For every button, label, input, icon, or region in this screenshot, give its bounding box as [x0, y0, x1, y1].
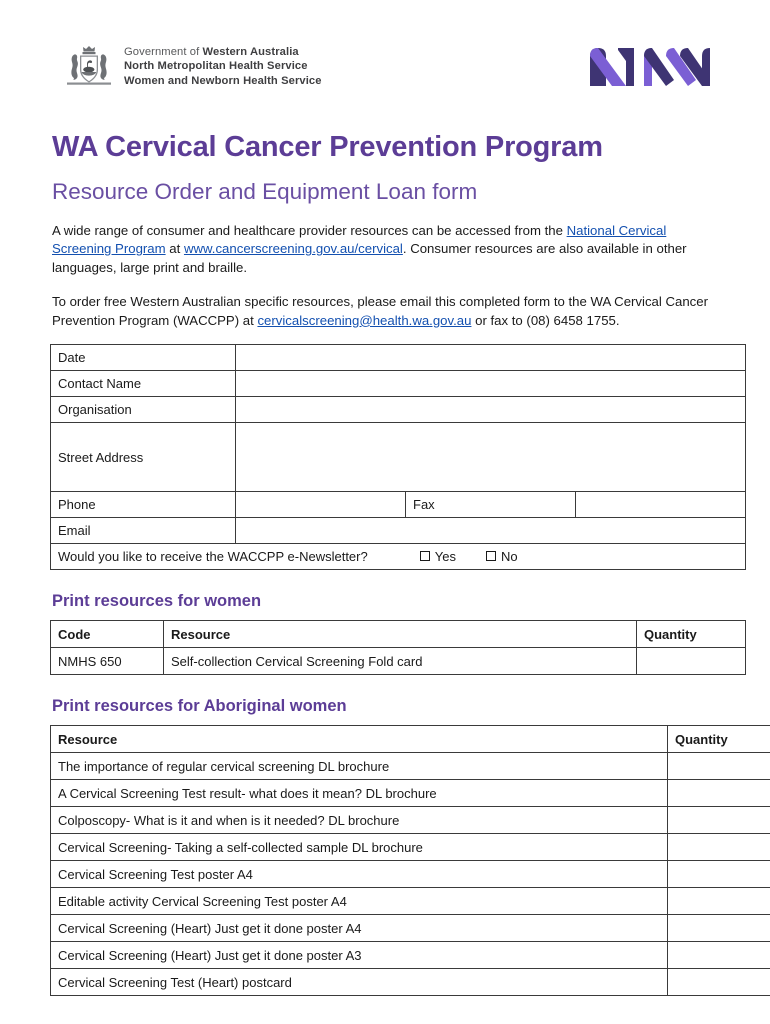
- cell-resource: Cervical Screening Test poster A4: [51, 861, 668, 888]
- table-header-row: Code Resource Quantity: [51, 621, 746, 648]
- cell-resource: Cervical Screening Test (Heart) postcard: [51, 969, 668, 996]
- document-page: Government of Western Australia North Me…: [0, 0, 770, 1024]
- column-header-resource: Resource: [164, 621, 637, 648]
- page-title: WA Cervical Cancer Prevention Program: [52, 132, 722, 164]
- cell-quantity-input[interactable]: [668, 780, 770, 807]
- contact-name-label: Contact Name: [51, 371, 236, 397]
- cell-resource: Editable activity Cervical Screening Tes…: [51, 888, 668, 915]
- gov-line-1: Government of Western Australia: [124, 45, 322, 59]
- intro-paragraph-1: A wide range of consumer and healthcare …: [52, 222, 722, 278]
- intro-p2-text-2: or fax to (08) 6458 1755.: [471, 313, 619, 328]
- fax-label: Fax: [406, 492, 576, 518]
- table-row: Cervical Screening Test (Heart) postcard: [51, 969, 770, 996]
- aboriginal-resources-table: Resource Quantity The importance of regu…: [50, 725, 770, 996]
- fax-input[interactable]: [576, 492, 746, 518]
- government-branding: Government of Western Australia North Me…: [66, 42, 322, 94]
- women-resources-table: Code Resource Quantity NMHS 650 Self-col…: [50, 620, 746, 675]
- cell-resource: A Cervical Screening Test result- what d…: [51, 780, 668, 807]
- cell-quantity-input[interactable]: [668, 834, 770, 861]
- cell-quantity-input[interactable]: [668, 942, 770, 969]
- cell-quantity-input[interactable]: [637, 648, 746, 675]
- cell-quantity-input[interactable]: [668, 969, 770, 996]
- cell-quantity-input[interactable]: [668, 861, 770, 888]
- cell-quantity-input[interactable]: [668, 753, 770, 780]
- organisation-label: Organisation: [51, 397, 236, 423]
- intro-p1-text-2: at: [166, 241, 184, 256]
- column-header-quantity: Quantity: [637, 621, 746, 648]
- street-address-input[interactable]: [236, 423, 746, 492]
- table-row-date: Date: [51, 345, 746, 371]
- cervicalscreening-email-link[interactable]: cervicalscreening@health.wa.gov.au: [257, 313, 471, 328]
- table-row: Cervical Screening- Taking a self-collec…: [51, 834, 770, 861]
- table-row-email: Email: [51, 518, 746, 544]
- document-header: Government of Western Australia North Me…: [48, 0, 722, 92]
- cell-resource: Cervical Screening (Heart) Just get it d…: [51, 915, 668, 942]
- cell-resource: Cervical Screening (Heart) Just get it d…: [51, 942, 668, 969]
- intro-paragraph-2: To order free Western Australian specifi…: [52, 293, 722, 330]
- column-header-code: Code: [51, 621, 164, 648]
- section-heading-women: Print resources for women: [52, 592, 722, 611]
- gov-line-1-bold: Western Australia: [203, 46, 299, 58]
- cell-resource: Self-collection Cervical Screening Fold …: [164, 648, 637, 675]
- wa-government-crest-icon: [66, 42, 112, 94]
- phone-input[interactable]: [236, 492, 406, 518]
- contact-name-input[interactable]: [236, 371, 746, 397]
- gov-line-2: North Metropolitan Health Service: [124, 59, 322, 73]
- street-address-label: Street Address: [51, 423, 236, 492]
- page-subtitle: Resource Order and Equipment Loan form: [52, 179, 722, 205]
- date-input[interactable]: [236, 345, 746, 371]
- cell-quantity-input[interactable]: [668, 807, 770, 834]
- column-header-resource: Resource: [51, 726, 668, 753]
- table-row-newsletter: Would you like to receive the WACCPP e-N…: [51, 544, 746, 570]
- table-row: A Cervical Screening Test result- what d…: [51, 780, 770, 807]
- table-header-row: Resource Quantity: [51, 726, 770, 753]
- table-row: Cervical Screening (Heart) Just get it d…: [51, 915, 770, 942]
- newsletter-yes-checkbox[interactable]: [420, 551, 430, 561]
- nm-logo: [588, 42, 718, 90]
- cell-resource: Cervical Screening- Taking a self-collec…: [51, 834, 668, 861]
- cell-resource: The importance of regular cervical scree…: [51, 753, 668, 780]
- newsletter-yes-label: Yes: [435, 549, 456, 564]
- newsletter-no-label: No: [501, 549, 518, 564]
- table-row-phone-fax: Phone Fax: [51, 492, 746, 518]
- phone-label: Phone: [51, 492, 236, 518]
- table-row: Colposcopy- What is it and when is it ne…: [51, 807, 770, 834]
- table-row: Editable activity Cervical Screening Tes…: [51, 888, 770, 915]
- newsletter-no-checkbox[interactable]: [486, 551, 496, 561]
- section-heading-aboriginal-women: Print resources for Aboriginal women: [52, 697, 722, 716]
- newsletter-question-label: Would you like to receive the WACCPP e-N…: [58, 549, 368, 564]
- table-row: NMHS 650 Self-collection Cervical Screen…: [51, 648, 746, 675]
- table-row-street-address: Street Address: [51, 423, 746, 492]
- cell-code: NMHS 650: [51, 648, 164, 675]
- contact-details-table: Date Contact Name Organisation Street Ad…: [50, 344, 746, 570]
- table-row: Cervical Screening (Heart) Just get it d…: [51, 942, 770, 969]
- date-label: Date: [51, 345, 236, 371]
- email-label: Email: [51, 518, 236, 544]
- email-input[interactable]: [236, 518, 746, 544]
- table-row-contact-name: Contact Name: [51, 371, 746, 397]
- gov-line-3: Women and Newborn Health Service: [124, 74, 322, 88]
- column-header-quantity: Quantity: [668, 726, 770, 753]
- newsletter-cell: Would you like to receive the WACCPP e-N…: [51, 544, 746, 570]
- organisation-input[interactable]: [236, 397, 746, 423]
- intro-p1-text-1: A wide range of consumer and healthcare …: [52, 223, 567, 238]
- table-row-organisation: Organisation: [51, 397, 746, 423]
- cell-quantity-input[interactable]: [668, 888, 770, 915]
- cell-quantity-input[interactable]: [668, 915, 770, 942]
- government-text-lines: Government of Western Australia North Me…: [124, 42, 322, 88]
- cancerscreening-website-link[interactable]: www.cancerscreening.gov.au/cervical: [184, 241, 403, 256]
- cell-resource: Colposcopy- What is it and when is it ne…: [51, 807, 668, 834]
- table-row: Cervical Screening Test poster A4: [51, 861, 770, 888]
- table-row: The importance of regular cervical scree…: [51, 753, 770, 780]
